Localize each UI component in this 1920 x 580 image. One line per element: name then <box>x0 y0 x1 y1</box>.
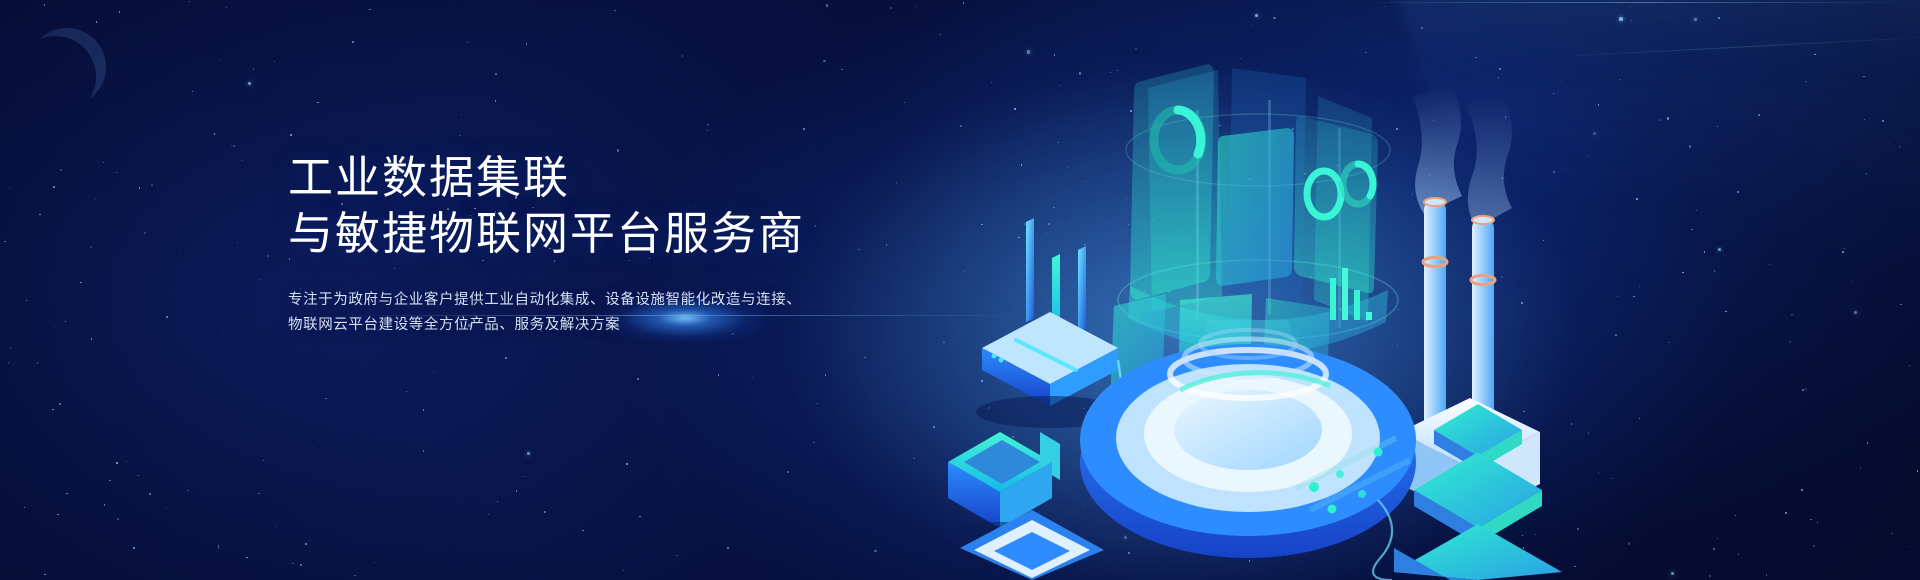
hero-banner: 工业数据集联 与敏捷物联网平台服务商 专注于为政府与企业客户提供工业自动化集成、… <box>0 0 1920 580</box>
subtitle-line-2: 物联网云平台建设等全方位产品、服务及解决方案 <box>288 313 928 338</box>
page-title: 工业数据集联 与敏捷物联网平台服务商 <box>288 150 928 262</box>
headline-line-1: 工业数据集联 <box>288 152 570 203</box>
page-subtitle: 专注于为政府与企业客户提供工业自动化集成、设备设施智能化改造与连接、 物联网云平… <box>288 288 928 338</box>
hero-copy: 工业数据集联 与敏捷物联网平台服务商 专注于为政府与企业客户提供工业自动化集成、… <box>288 150 928 338</box>
headline-line-2: 与敏捷物联网平台服务商 <box>288 208 805 259</box>
subtitle-line-1: 专注于为政府与企业客户提供工业自动化集成、设备设施智能化改造与连接、 <box>288 288 928 313</box>
